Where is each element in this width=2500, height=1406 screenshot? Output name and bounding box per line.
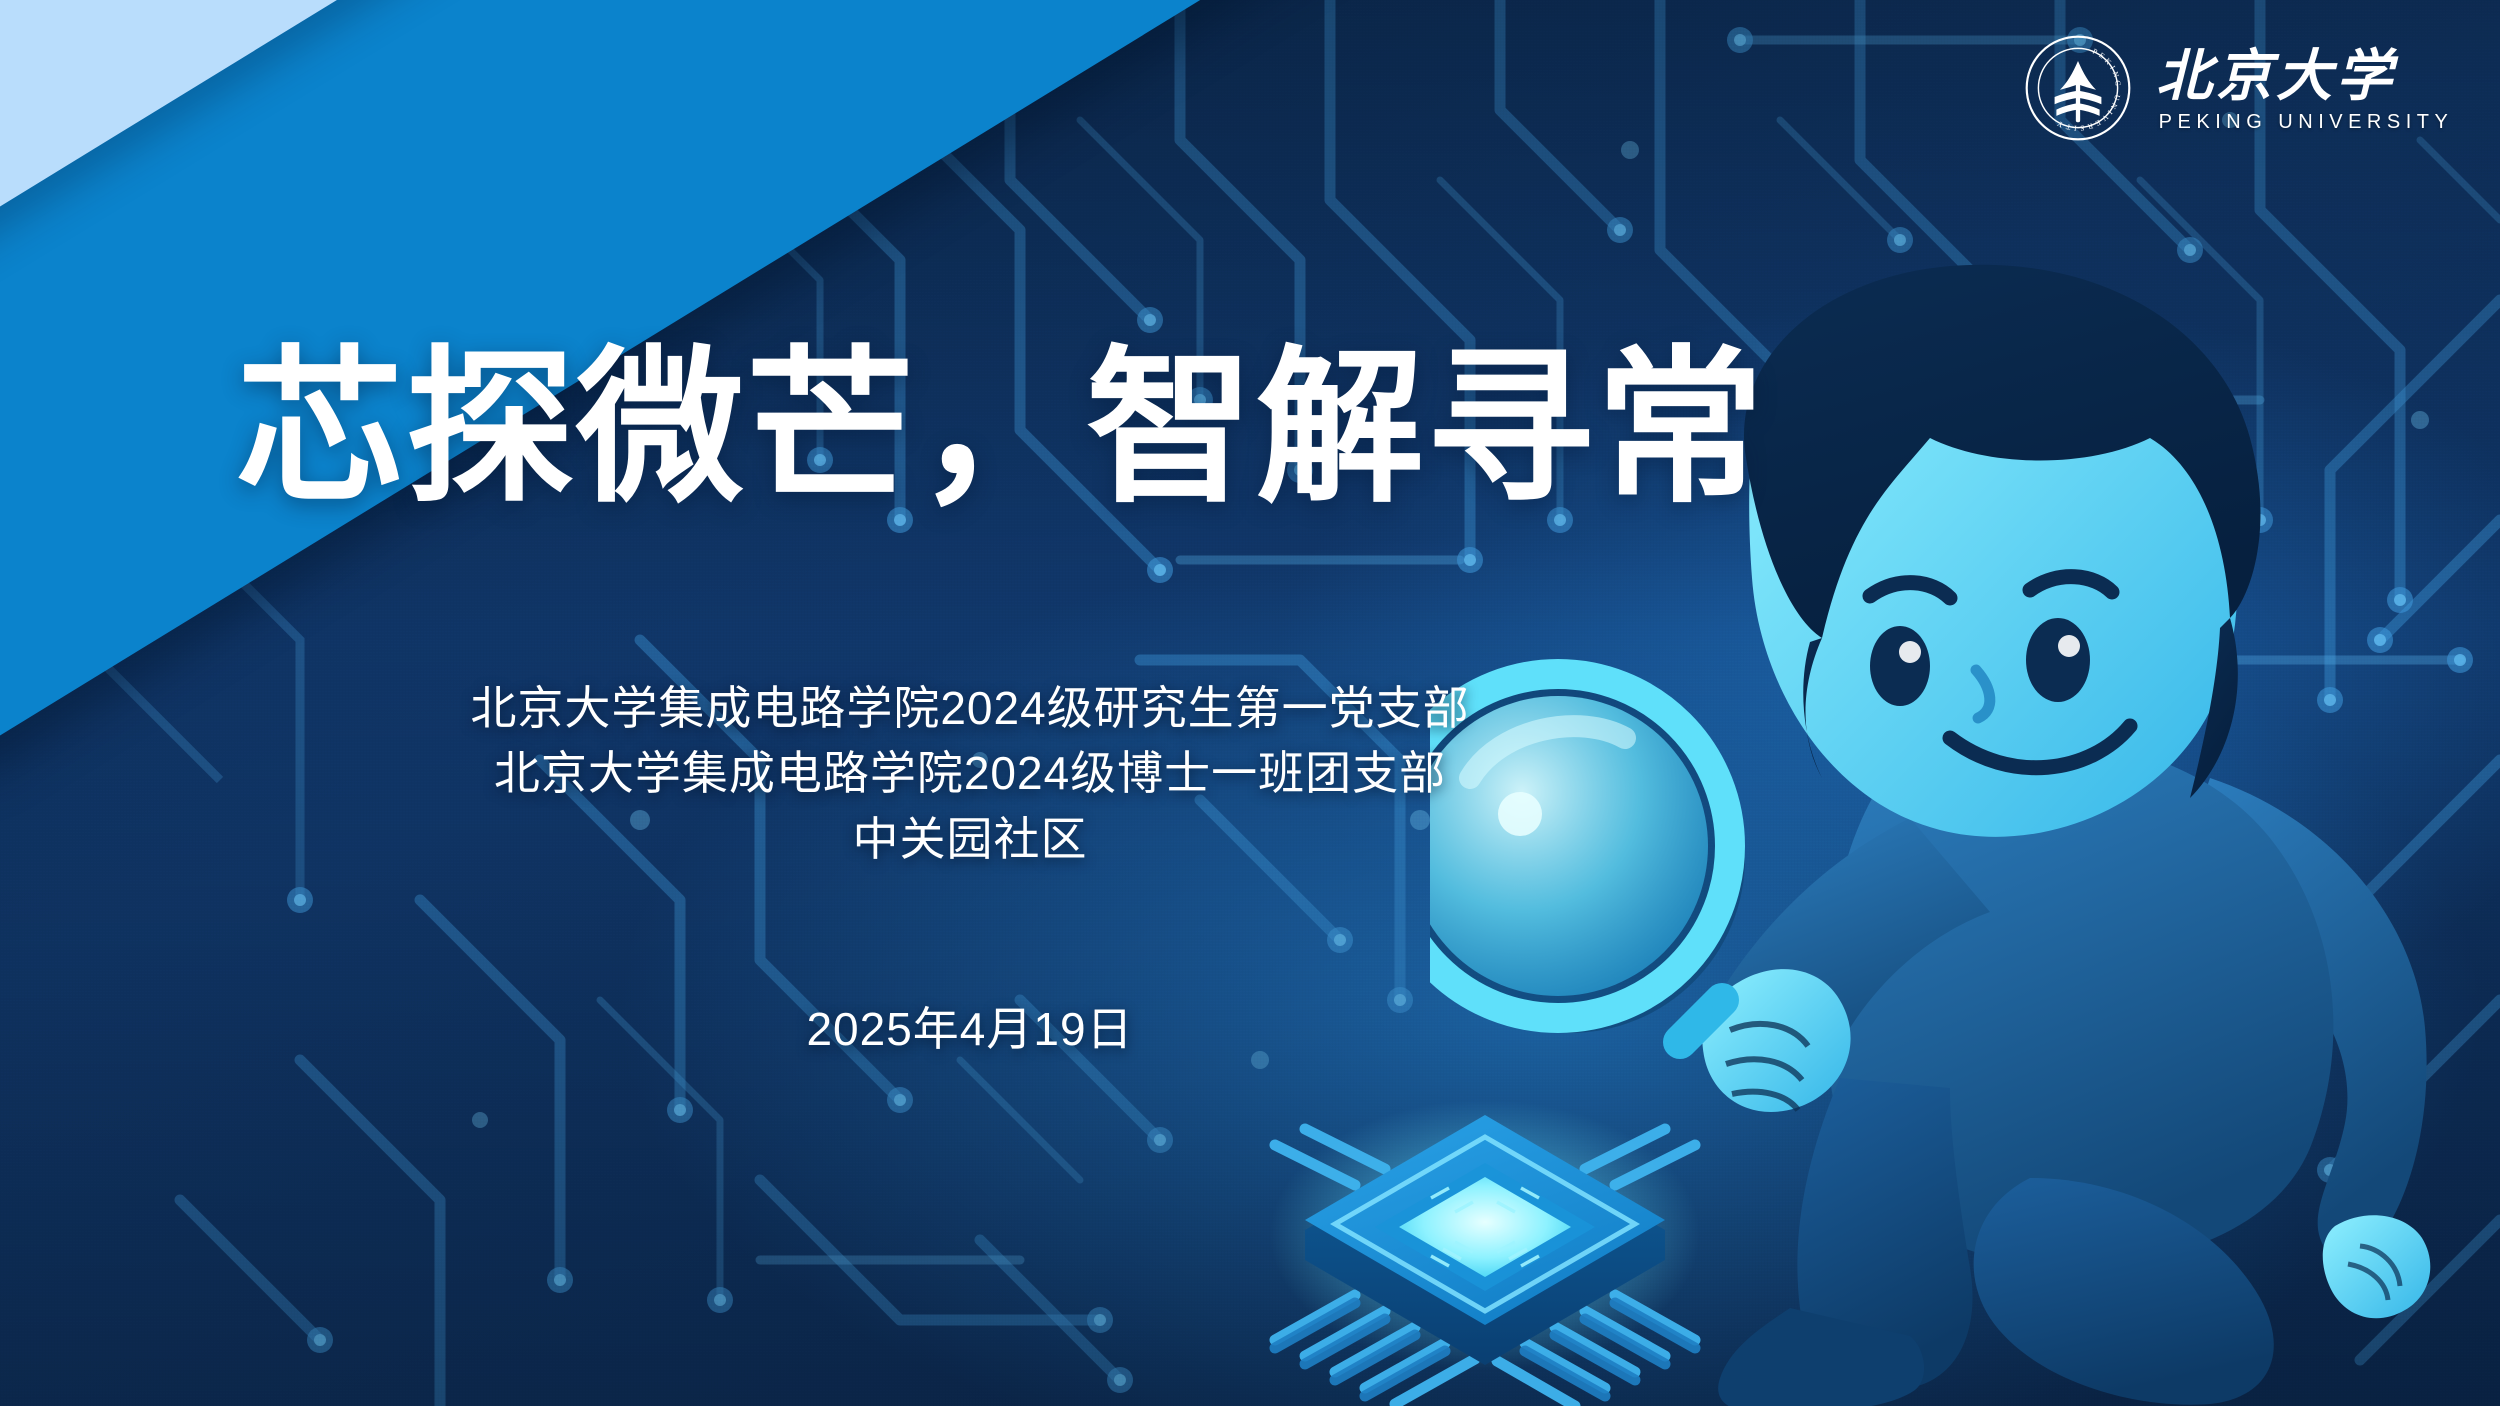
logo-name-cn: 北京大学 (2156, 43, 2456, 107)
subtitle-line-2: 北京大学集成电路学院2024级博士一班团支部 (0, 741, 1940, 806)
peking-university-logo: PEKING UNIVERSITY 北京大学 PEKING UNIVERSITY (2024, 34, 2456, 142)
peking-university-seal-icon: PEKING UNIVERSITY (2024, 34, 2132, 142)
page-title: 芯探微芒，智解寻常 (236, 338, 1766, 519)
logo-name-cn-text: 北京大学 (2156, 46, 2399, 107)
presentation-date: 2025年4月19日 (0, 993, 1940, 1059)
presentation-title-slide: PEKING UNIVERSITY 北京大学 PEKING UNIVERSITY… (0, 0, 2500, 1406)
subtitle-line-3: 中关园社区 (0, 807, 1940, 872)
subtitle-block: 北京大学集成电路学院2024级研究生第一党支部 北京大学集成电路学院2024级博… (0, 676, 1940, 872)
logo-wordmark: 北京大学 PEKING UNIVERSITY (2156, 43, 2456, 134)
subtitle-line-1: 北京大学集成电路学院2024级研究生第一党支部 (0, 676, 1940, 741)
svg-text:PEKING UNIVERSITY: PEKING UNIVERSITY (2053, 46, 2123, 132)
logo-name-en: PEKING UNIVERSITY (2159, 111, 2454, 134)
